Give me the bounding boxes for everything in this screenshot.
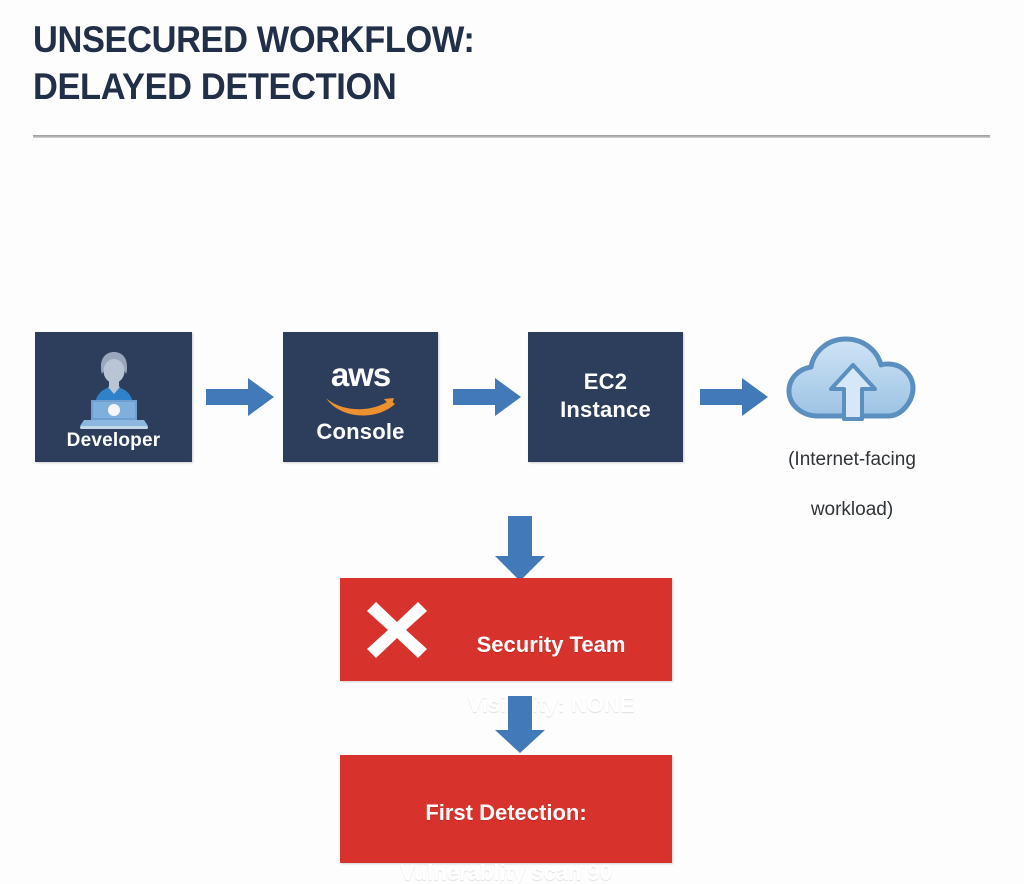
node-developer: Developer xyxy=(35,332,192,462)
cloud-caption-line-1: (Internet-facing xyxy=(752,447,952,472)
alert-first-detection-line-2: Vulnerablity scan 90 xyxy=(340,858,672,884)
arrow-cloud-to-visibility-icon xyxy=(494,516,546,587)
diagram-canvas: UNSECURED WORKFLOW: DELAYED DETECTION xyxy=(0,0,1024,884)
cloud-caption-line-2: workload) xyxy=(752,497,952,522)
page-title: UNSECURED WORKFLOW: DELAYED DETECTION xyxy=(33,16,733,110)
cloud-upload-icon xyxy=(782,330,916,435)
alert-security-visibility-line-2: Visibility: NONE xyxy=(440,690,662,720)
alert-security-visibility-text: Security Team Visibility: NONE xyxy=(440,600,662,750)
node-ec2-instance: EC2 Instance xyxy=(528,332,683,462)
alert-first-detection-text: First Detection: Vulnerablity scan 90 da… xyxy=(340,768,672,884)
alert-security-visibility: Security Team Visibility: NONE xyxy=(340,578,672,681)
title-divider xyxy=(33,135,990,138)
arrow-visibility-to-detection-icon xyxy=(494,696,546,759)
arrow-console-to-ec2-icon xyxy=(453,376,523,423)
arrow-ec2-to-cloud-icon xyxy=(700,376,770,423)
node-aws-console-label: Console xyxy=(283,420,438,444)
developer-person-laptop-icon xyxy=(71,350,157,437)
alert-security-visibility-line-1: Security Team xyxy=(440,630,662,660)
page-title-line-2: DELAYED DETECTION xyxy=(33,63,684,110)
node-developer-label: Developer xyxy=(35,429,192,453)
node-ec2-instance-label-line-2: Instance xyxy=(528,398,683,422)
arrow-dev-to-console-icon xyxy=(206,376,276,423)
alert-first-detection: First Detection: Vulnerablity scan 90 da… xyxy=(340,755,672,863)
page-title-line-1: UNSECURED WORKFLOW: xyxy=(33,16,684,63)
node-aws-console: aws Console xyxy=(283,332,438,462)
alert-first-detection-line-1: First Detection: xyxy=(340,798,672,828)
node-ec2-instance-label-line-1: EC2 xyxy=(528,370,683,394)
x-mark-icon xyxy=(366,600,428,665)
aws-wordmark: aws xyxy=(283,358,438,392)
cloud-caption: (Internet-facing workload) xyxy=(752,422,952,547)
